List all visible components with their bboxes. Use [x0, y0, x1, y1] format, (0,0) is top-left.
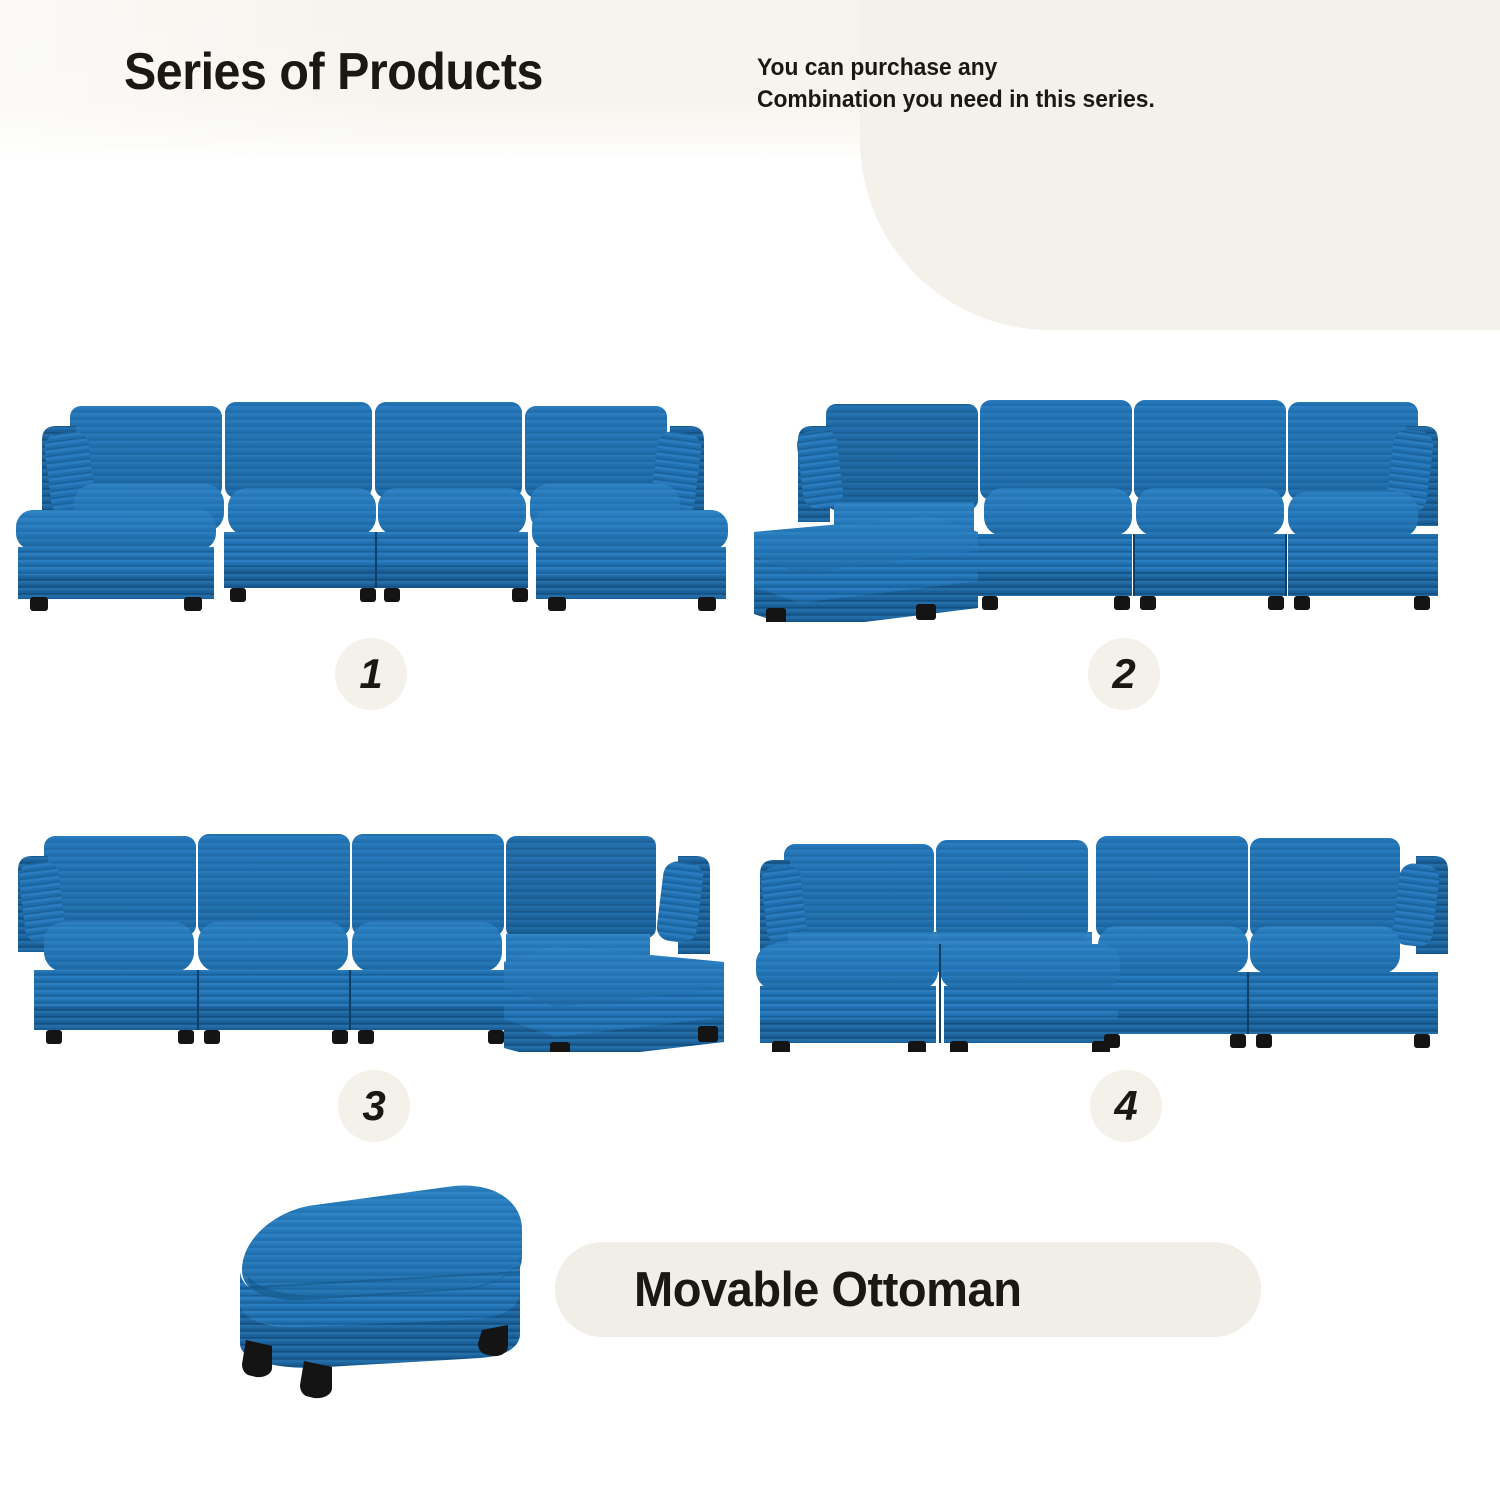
configuration-2[interactable]	[748, 392, 1468, 622]
page-title: Series of Products	[124, 42, 543, 102]
config-badge-1: 1	[335, 638, 407, 710]
ottoman-left-1	[16, 510, 216, 611]
ottoman-right-1	[532, 510, 728, 611]
sofa-feet-4	[1104, 1034, 1430, 1048]
sofa-feet-3	[46, 1030, 504, 1044]
seat-cushions-right-4	[1098, 926, 1400, 974]
configuration-1[interactable]	[8, 392, 738, 622]
sofa-feet-2	[982, 596, 1430, 610]
seat-cushions-3	[44, 922, 502, 972]
config-badge-2: 2	[1088, 638, 1160, 710]
chaise-ottoman-3	[504, 946, 724, 1052]
front-ottoman-a-4	[756, 944, 938, 1052]
header-subtitle-line-1: You can purchase any	[757, 52, 1155, 84]
config-badge-3: 3	[338, 1070, 410, 1142]
configuration-3[interactable]	[10, 822, 740, 1052]
sofa-illustration-1	[8, 392, 738, 622]
seat-base-right-4	[1092, 972, 1438, 1034]
movable-ottoman-label: Movable Ottoman	[634, 1248, 1172, 1332]
header-subtitle: You can purchase any Combination you nee…	[757, 52, 1155, 115]
seat-cushions-2	[984, 488, 1418, 538]
header: Series of Products You can purchase any …	[0, 0, 1500, 170]
seat-base-2	[976, 534, 1438, 596]
seat-base-1	[224, 532, 528, 588]
header-subtitle-line-2: Combination you need in this series.	[757, 84, 1155, 116]
sofa-illustration-4	[748, 822, 1468, 1052]
sofa-illustration-2	[748, 392, 1468, 622]
sofa-illustration-3	[10, 822, 740, 1052]
configuration-4[interactable]	[748, 822, 1468, 1052]
chaise-ottoman-2	[754, 516, 978, 622]
front-ottoman-b-4	[940, 944, 1120, 1052]
back-cushions-1	[70, 402, 667, 498]
sofa-feet-1	[230, 588, 528, 602]
config-badge-4: 4	[1090, 1070, 1162, 1142]
movable-ottoman[interactable]	[196, 1178, 556, 1413]
back-cushions-4	[784, 836, 1400, 940]
seat-base-3	[34, 970, 506, 1030]
back-cushions-2	[980, 400, 1418, 500]
ottoman-illustration	[196, 1178, 556, 1408]
